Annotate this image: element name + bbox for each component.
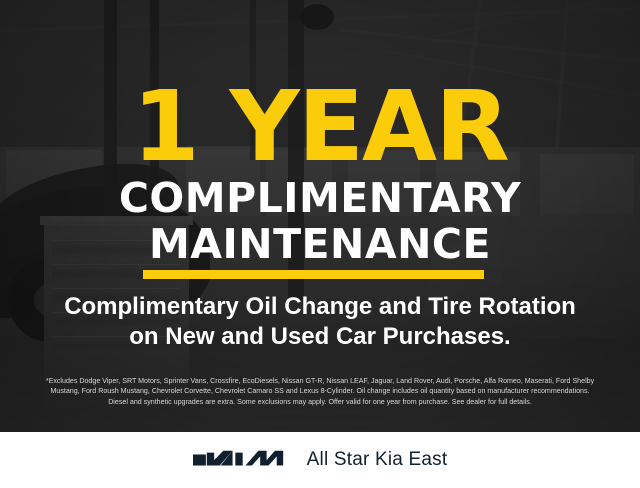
disclaimer-line-3: Diesel and synthetic upgrades are extra.… (8, 397, 632, 407)
disclaimer-line-2: Mustang, Ford Roush Mustang, Chevrolet C… (8, 386, 632, 396)
yellow-divider (143, 270, 484, 279)
dealer-name: All Star Kia East (307, 449, 448, 471)
disclaimer-text: *Excludes Dodge Viper, SRT Motors, Sprin… (8, 376, 632, 407)
promo-content: 1 YEAR COMPLIMENTARY MAINTENANCE Complim… (0, 0, 640, 432)
offer-description-line-2: on New and Used Car Purchases. (0, 324, 640, 350)
disclaimer-line-1: *Excludes Dodge Viper, SRT Motors, Sprin… (8, 376, 632, 386)
kia-logo (193, 448, 285, 472)
headline-year: 1 YEAR (0, 78, 640, 175)
headline-maintenance: MAINTENANCE (0, 224, 640, 265)
offer-description-line-1: Complimentary Oil Change and Tire Rotati… (0, 294, 640, 320)
headline-complimentary: COMPLIMENTARY (0, 178, 640, 219)
promotional-banner: 1 YEAR COMPLIMENTARY MAINTENANCE Complim… (0, 0, 640, 488)
dealer-footer: All Star Kia East (0, 432, 640, 488)
